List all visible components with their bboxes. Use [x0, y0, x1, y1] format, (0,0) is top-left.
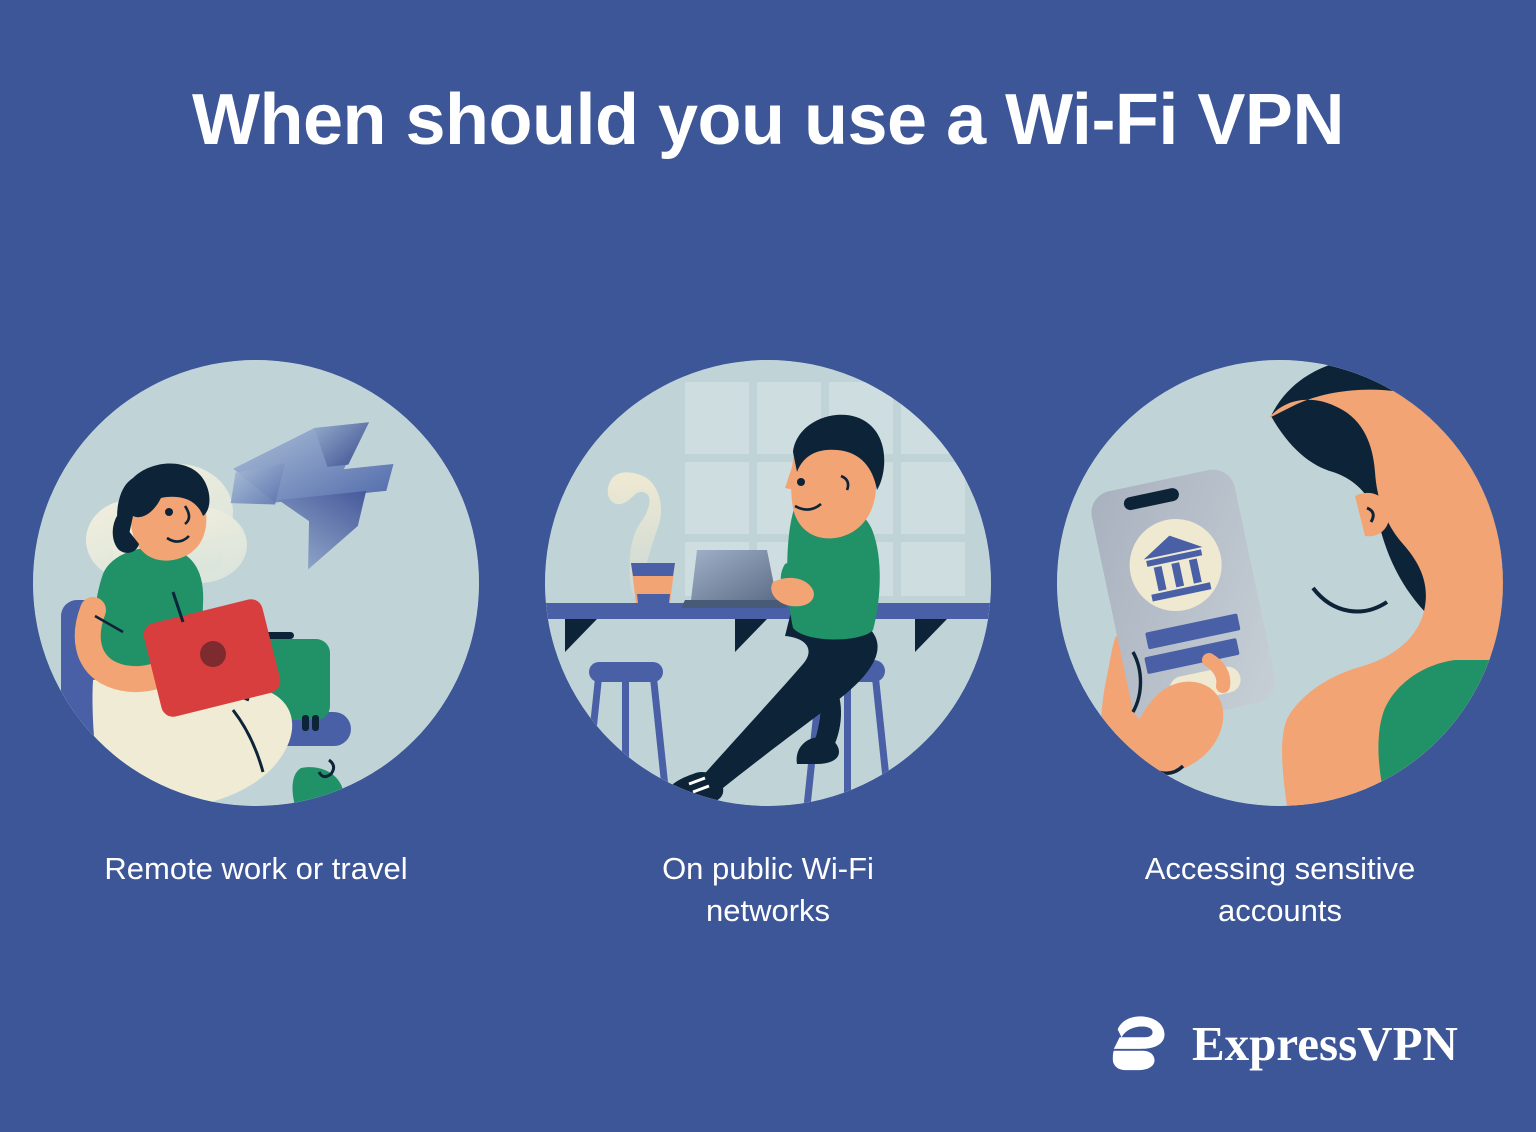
illustration-remote-work — [33, 360, 479, 806]
card-caption-public-wifi: On public Wi-Fi networks — [603, 848, 933, 931]
expressvpn-logo: ExpressVPN — [1108, 1012, 1458, 1074]
illustration-public-wifi — [545, 360, 991, 806]
card-remote-work: Remote work or travel — [32, 360, 480, 890]
infographic-page: When should you use a Wi-Fi VPN — [0, 0, 1536, 1132]
card-sensitive-accounts: Accessing sensitive accounts — [1056, 360, 1504, 931]
card-caption-remote-work: Remote work or travel — [91, 848, 421, 890]
card-caption-sensitive-accounts: Accessing sensitive accounts — [1115, 848, 1445, 931]
coffee-cup — [631, 563, 675, 603]
illustration-sensitive-accounts — [1057, 360, 1503, 806]
page-title: When should you use a Wi-Fi VPN — [0, 84, 1536, 156]
card-public-wifi: On public Wi-Fi networks — [544, 360, 992, 931]
cards-row: Remote work or travel — [0, 360, 1536, 931]
expressvpn-wordmark: ExpressVPN — [1192, 1019, 1458, 1068]
expressvpn-mark-icon — [1108, 1012, 1170, 1074]
